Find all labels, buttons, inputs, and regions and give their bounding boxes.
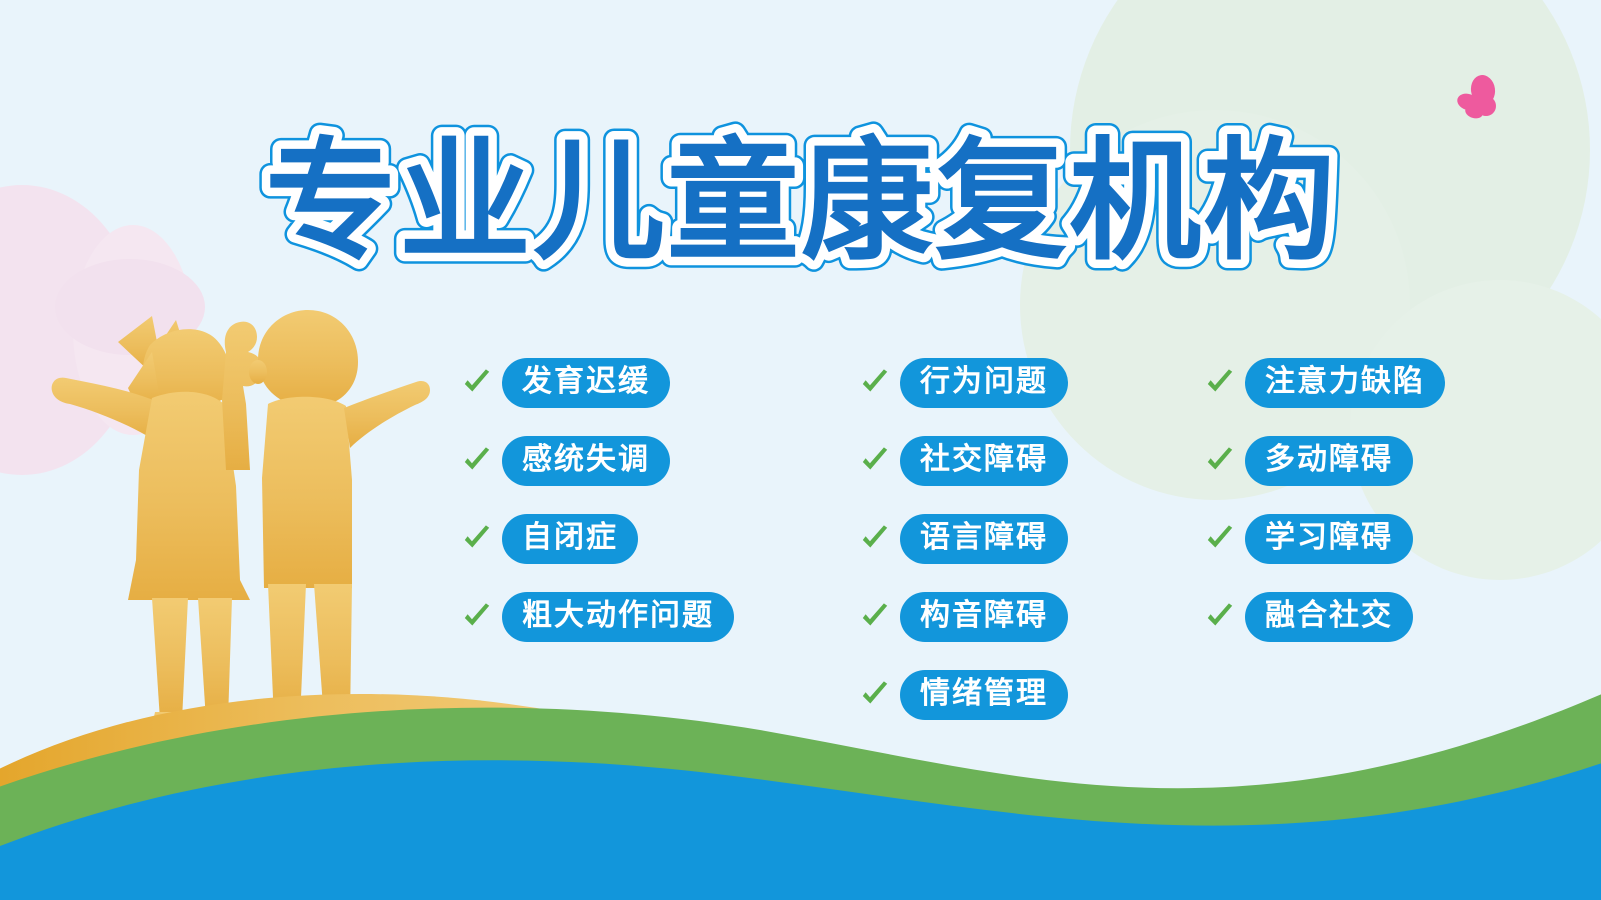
service-tag-label: 自闭症 [522, 523, 618, 553]
tag-row[interactable]: 融合社交 [1205, 590, 1445, 644]
tag-column-2: 行为问题社交障碍语言障碍构音障碍情绪管理 [860, 356, 1068, 746]
check-icon [860, 524, 890, 554]
tag-row[interactable]: 自闭症 [462, 512, 734, 566]
tag-row[interactable]: 学习障碍 [1205, 512, 1445, 566]
check-icon [860, 446, 890, 476]
service-tag-pill[interactable]: 语言障碍 [900, 514, 1068, 564]
tag-row[interactable]: 感统失调 [462, 434, 734, 488]
tag-row[interactable]: 行为问题 [860, 356, 1068, 410]
service-tag-pill[interactable]: 发育迟缓 [502, 358, 670, 408]
check-icon [462, 602, 492, 632]
check-icon [462, 368, 492, 398]
tag-column-3: 注意力缺陷多动障碍学习障碍融合社交 [1205, 356, 1445, 668]
service-tag-label: 社交障碍 [920, 445, 1048, 475]
service-tag-pill[interactable]: 构音障碍 [900, 592, 1068, 642]
service-tag-pill[interactable]: 粗大动作问题 [502, 592, 734, 642]
check-icon [1205, 446, 1235, 476]
check-icon [462, 524, 492, 554]
tag-row[interactable]: 粗大动作问题 [462, 590, 734, 644]
tag-row[interactable]: 发育迟缓 [462, 356, 734, 410]
poster-canvas: 专业儿童康复机构 专业儿童康复机构 专业儿童康复机构 发育迟缓感统失调自闭症粗大… [0, 0, 1601, 900]
service-tag-pill[interactable]: 多动障碍 [1245, 436, 1413, 486]
service-tag-pill[interactable]: 感统失调 [502, 436, 670, 486]
check-icon [1205, 368, 1235, 398]
service-tag-label: 语言障碍 [920, 523, 1048, 553]
service-tag-label: 构音障碍 [920, 601, 1048, 631]
service-tag-label: 感统失调 [522, 445, 650, 475]
tag-column-1: 发育迟缓感统失调自闭症粗大动作问题 [462, 356, 734, 668]
tag-row[interactable]: 注意力缺陷 [1205, 356, 1445, 410]
service-tag-label: 融合社交 [1265, 601, 1393, 631]
service-tag-pill[interactable]: 情绪管理 [900, 670, 1068, 720]
service-tag-label: 注意力缺陷 [1265, 367, 1425, 397]
service-tag-pill[interactable]: 社交障碍 [900, 436, 1068, 486]
tag-row[interactable]: 构音障碍 [860, 590, 1068, 644]
service-tag-pill[interactable]: 融合社交 [1245, 592, 1413, 642]
service-tag-label: 行为问题 [920, 367, 1048, 397]
service-tag-label: 粗大动作问题 [522, 601, 714, 631]
service-tag-pill[interactable]: 行为问题 [900, 358, 1068, 408]
check-icon [1205, 602, 1235, 632]
tag-row[interactable]: 语言障碍 [860, 512, 1068, 566]
service-tag-label: 多动障碍 [1265, 445, 1393, 475]
check-icon [860, 368, 890, 398]
tag-row[interactable]: 情绪管理 [860, 668, 1068, 722]
service-tag-label: 发育迟缓 [522, 367, 650, 397]
service-tag-label: 情绪管理 [920, 679, 1048, 709]
service-tag-pill[interactable]: 自闭症 [502, 514, 638, 564]
service-tag-pill[interactable]: 注意力缺陷 [1245, 358, 1445, 408]
check-icon [860, 680, 890, 710]
service-tag-label: 学习障碍 [1265, 523, 1393, 553]
check-icon [1205, 524, 1235, 554]
check-icon [462, 446, 492, 476]
check-icon [860, 602, 890, 632]
tag-row[interactable]: 社交障碍 [860, 434, 1068, 488]
service-tag-pill[interactable]: 学习障碍 [1245, 514, 1413, 564]
tag-row[interactable]: 多动障碍 [1205, 434, 1445, 488]
